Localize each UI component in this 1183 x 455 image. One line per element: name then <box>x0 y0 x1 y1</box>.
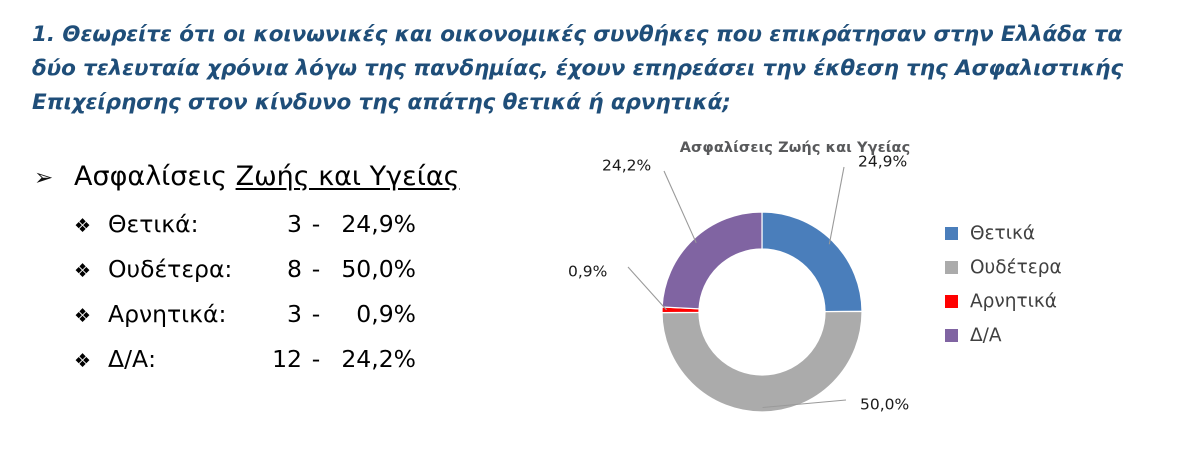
legend-item-Αρνητικά[interactable]: Αρνητικά <box>945 284 1155 318</box>
diamond-bullet-icon: ❖ <box>74 205 108 248</box>
chart-legend: ΘετικάΟυδέτεραΑρνητικάΔ/Α <box>945 216 1155 352</box>
donut-slice-Δ/Α[interactable] <box>662 212 762 309</box>
list-item-separator: - <box>302 293 330 336</box>
data-label-Δ/Α: 24,2% <box>602 157 651 175</box>
list-item-percent: 24,2% <box>330 338 416 381</box>
list-item-percent: 0,9% <box>330 293 416 336</box>
diamond-bullet-icon: ❖ <box>74 295 108 338</box>
list-item-separator: - <box>302 338 330 381</box>
donut-slice-Θετικά[interactable] <box>762 212 862 312</box>
list-item-count: 3 <box>256 203 302 246</box>
legend-item-Ουδέτερα[interactable]: Ουδέτερα <box>945 250 1155 284</box>
legend-label: Δ/Α <box>970 325 1002 346</box>
slide-canvas: 1. Θεωρείτε ότι οι κοινωνικές και οικονο… <box>0 0 1183 455</box>
list-item-count: 8 <box>256 248 302 291</box>
legend-swatch-icon <box>945 261 958 274</box>
data-label-Θετικά: 24,9% <box>858 153 907 171</box>
list-item-percent: 50,0% <box>330 248 416 291</box>
diamond-bullet-icon: ❖ <box>74 340 108 383</box>
list-item-percent: 24,9% <box>330 203 416 246</box>
list-item: ❖Ουδέτερα:8-50,0% <box>34 248 554 293</box>
chart-container: Ασφαλίσεις Ζωής και Υγείας 24,9%50,0%0,9… <box>560 130 1170 440</box>
list-item-separator: - <box>302 203 330 246</box>
main-bullet-text-plain: Ασφαλίσεις <box>74 161 236 192</box>
list-item-count: 12 <box>256 338 302 381</box>
list-item-label: Δ/Α: <box>108 338 256 381</box>
bullet-list: ➢ Ασφαλίσεις Ζωής και Υγείας ❖Θετικά:3-2… <box>34 158 554 383</box>
legend-swatch-icon <box>945 295 958 308</box>
list-item: ❖Δ/Α:12-24,2% <box>34 338 554 383</box>
list-item-main: ➢ Ασφαλίσεις Ζωής και Υγείας <box>34 158 554 197</box>
sub-bullet-group: ❖Θετικά:3-24,9%❖Ουδέτερα:8-50,0%❖Αρνητικ… <box>34 203 554 383</box>
list-item-count: 3 <box>256 293 302 336</box>
donut-chart: 24,9%50,0%0,9%24,2% <box>560 130 980 440</box>
donut-slice-Ουδέτερα[interactable] <box>662 311 862 412</box>
legend-swatch-icon <box>945 329 958 342</box>
legend-item-Δ/Α[interactable]: Δ/Α <box>945 318 1155 352</box>
legend-label: Ουδέτερα <box>970 257 1062 278</box>
legend-label: Αρνητικά <box>970 291 1057 312</box>
list-item-label: Ουδέτερα: <box>108 248 256 291</box>
leader-line-Θετικά <box>829 167 844 244</box>
legend-item-Θετικά[interactable]: Θετικά <box>945 216 1155 250</box>
list-item: ❖Θετικά:3-24,9% <box>34 203 554 248</box>
list-item-separator: - <box>302 248 330 291</box>
leader-line-Αρνητικά <box>628 267 667 310</box>
list-item-label: Θετικά: <box>108 203 256 246</box>
list-item: ❖Αρνητικά:3-0,9% <box>34 293 554 338</box>
main-bullet-text-underlined: Ζωής και Υγείας <box>236 161 460 192</box>
main-bullet-text: Ασφαλίσεις Ζωής και Υγείας <box>74 158 460 196</box>
diamond-bullet-icon: ❖ <box>74 250 108 293</box>
arrow-bullet-icon: ➢ <box>34 159 74 197</box>
page-title: 1. Θεωρείτε ότι οι κοινωνικές και οικονο… <box>32 18 1162 120</box>
leader-line-Δ/Α <box>664 171 696 243</box>
donut-slice-group <box>662 212 862 412</box>
legend-swatch-icon <box>945 227 958 240</box>
list-item-label: Αρνητικά: <box>108 293 256 336</box>
data-label-Αρνητικά: 0,9% <box>568 263 607 281</box>
data-label-Ουδέτερα: 50,0% <box>860 396 909 414</box>
legend-label: Θετικά <box>970 223 1035 244</box>
